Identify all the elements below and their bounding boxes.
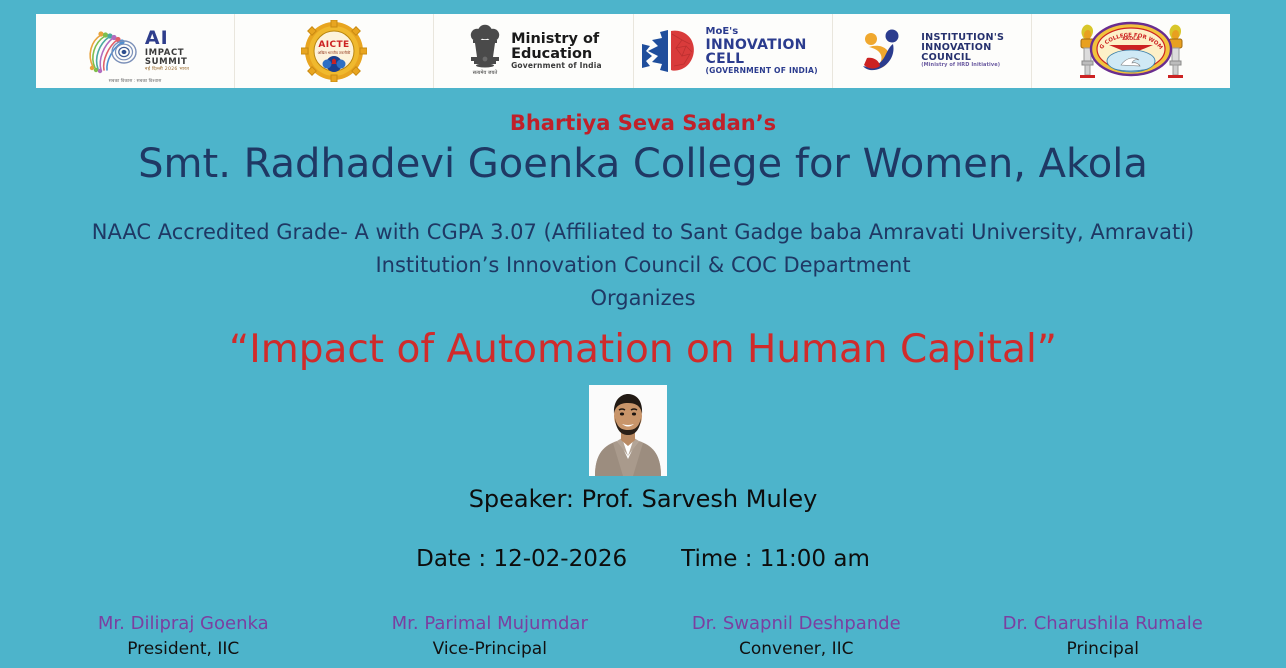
signatory-name: Mr. Parimal Mujumdar	[337, 611, 644, 637]
signatory-row: Mr. Dilipraj Goenka President, IIC Mr. P…	[30, 611, 1256, 662]
ai-logo-line4: नई दिल्ली 2026 भारत	[145, 68, 189, 73]
svg-text:AKOLA: AKOLA	[1122, 36, 1140, 42]
ashoka-emblem-icon: सत्यमेव जयते	[465, 24, 505, 78]
accreditation-line: NAAC Accredited Grade- A with CGPA 3.07 …	[0, 220, 1286, 244]
signatory-name: Mr. Dilipraj Goenka	[30, 611, 337, 637]
signatory-name: Dr. Charushila Rumale	[950, 611, 1257, 637]
moe-innovation-cell-text: MoE's INNOVATION CELL (GOVERNMENT OF IND…	[706, 27, 828, 75]
department-line: Institution’s Innovation Council & COC D…	[0, 253, 1286, 277]
speaker-name: Speaker: Prof. Sarvesh Muley	[0, 485, 1286, 513]
iic-swoosh-figure-icon	[859, 27, 915, 75]
svg-text:अखिल भारतीय तकनीकी: अखिल भारतीय तकनीकी	[318, 50, 351, 55]
mic-logo-line1: MoE's	[706, 27, 828, 38]
aicte-gear-emblem-icon: AICTE अखिल भारतीय तकनीकी	[301, 20, 367, 82]
ai-impact-summit-text: AI IMPACT SUMMIT नई दिल्ली 2026 भारत	[145, 29, 189, 73]
signatory-convener: Dr. Swapnil Deshpande Convener, IIC	[643, 611, 950, 662]
speaker-portrait-image	[589, 385, 667, 476]
ai-impact-summit-fan-icon	[81, 27, 139, 75]
institutions-innovation-council-logo: INSTITUTION'S INNOVATION COUNCIL (Minist…	[833, 14, 1032, 88]
signatory-vice-principal: Mr. Parimal Mujumdar Vice-Principal	[337, 611, 644, 662]
signatory-role: Principal	[950, 637, 1257, 662]
event-title: “Impact of Automation on Human Capital”	[0, 327, 1286, 372]
event-date: Date : 12-02-2026	[416, 546, 627, 572]
signatory-principal: Dr. Charushila Rumale Principal	[950, 611, 1257, 662]
event-time: Time : 11:00 am	[681, 546, 870, 572]
gear-brain-icon	[638, 26, 700, 76]
iic-logo-line4: (Ministry of HRD Initiative)	[921, 63, 1004, 68]
ai-logo-line1: AI	[145, 29, 189, 49]
ai-impact-summit-logo: AI IMPACT SUMMIT नई दिल्ली 2026 भारत सबक…	[36, 14, 235, 88]
event-datetime: Date : 12-02-2026 Time : 11:00 am	[0, 546, 1286, 572]
college-crest-with-torches-icon: RDG COLLEGE FOR WOMEN AKOLA	[1064, 19, 1198, 83]
svg-text:सत्यमेव जयते: सत्यमेव जयते	[473, 69, 498, 76]
partner-logo-strip: AI IMPACT SUMMIT नई दिल्ली 2026 भारत सबक…	[36, 14, 1230, 88]
signatory-role: President, IIC	[30, 637, 337, 662]
svg-text:AICTE: AICTE	[319, 40, 350, 50]
aicte-logo: AICTE अखिल भारतीय तकनीकी	[235, 14, 434, 88]
iic-logo-text: INSTITUTION'S INNOVATION COUNCIL (Minist…	[921, 33, 1004, 68]
ai-logo-line3: SUMMIT	[145, 58, 189, 67]
moe-logo-line1: Ministry of	[511, 32, 602, 47]
signatory-role: Vice-Principal	[337, 637, 644, 662]
signatory-role: Convener, IIC	[643, 637, 950, 662]
moe-innovation-cell-logo: MoE's INNOVATION CELL (GOVERNMENT OF IND…	[634, 14, 833, 88]
signatory-president: Mr. Dilipraj Goenka President, IIC	[30, 611, 337, 662]
signatory-name: Dr. Swapnil Deshpande	[643, 611, 950, 637]
page-title: Smt. Radhadevi Goenka College for Women,…	[0, 141, 1286, 187]
ministry-of-education-text: Ministry of Education Government of Indi…	[511, 32, 602, 70]
organizes-line: Organizes	[0, 286, 1286, 310]
mic-logo-line3: (GOVERNMENT OF INDIA)	[706, 67, 828, 75]
moe-logo-line2: Education	[511, 47, 602, 62]
rdg-college-logo: RDG COLLEGE FOR WOMEN AKOLA	[1032, 14, 1230, 88]
speaker-photo	[589, 385, 667, 476]
organizer-prefix: Bhartiya Seva Sadan’s	[0, 111, 1286, 135]
moe-logo-line3: Government of India	[511, 62, 602, 70]
ai-logo-footer-tagline: सबका विकास : सबका विश्वास	[36, 78, 234, 84]
mic-logo-line2: INNOVATION CELL	[706, 38, 828, 67]
ministry-of-education-logo: सत्यमेव जयते Ministry of Education Gover…	[434, 14, 633, 88]
